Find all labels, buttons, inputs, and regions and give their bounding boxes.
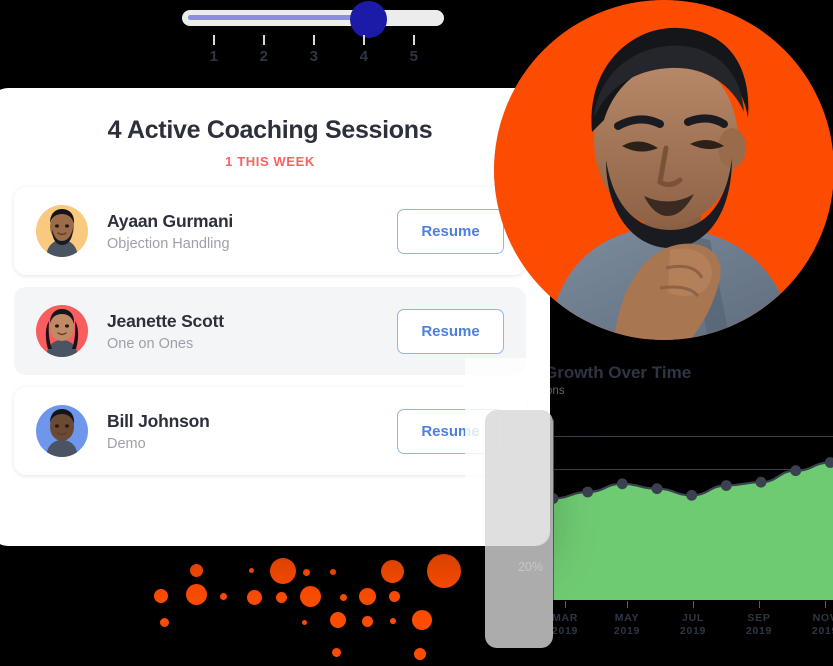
decorative-dot bbox=[303, 569, 310, 576]
resume-button[interactable]: Resume bbox=[397, 409, 504, 454]
session-list: Ayaan GurmaniObjection HandlingResumeJea… bbox=[0, 187, 550, 475]
chart-x-tick bbox=[565, 601, 566, 608]
decorative-dot bbox=[302, 620, 307, 625]
avatar bbox=[36, 405, 88, 457]
card-header: 4 Active Coaching Sessions 1 THIS WEEK bbox=[0, 88, 550, 173]
slider-tick-4 bbox=[363, 35, 365, 45]
slider-tick-1 bbox=[213, 35, 215, 45]
session-text: Bill JohnsonDemo bbox=[107, 411, 397, 452]
chart-data-point bbox=[617, 478, 628, 489]
decorative-dot bbox=[160, 618, 169, 627]
chart-y-tick-label: 20% bbox=[499, 560, 543, 574]
chart-x-tick bbox=[825, 601, 826, 608]
slider-tick-label-3[interactable]: 3 bbox=[304, 48, 324, 65]
chart-x-tick-label: NOV2019 bbox=[812, 612, 833, 638]
session-learner-name: Ayaan Gurmani bbox=[107, 211, 397, 232]
decorative-dot bbox=[390, 618, 396, 624]
avatar bbox=[36, 205, 88, 257]
chart-x-tick-label: MAY2019 bbox=[614, 612, 640, 638]
chart-plot-area bbox=[553, 420, 833, 600]
decorative-dot bbox=[247, 590, 262, 605]
chart-data-point bbox=[721, 480, 732, 491]
decorative-dot bbox=[412, 610, 432, 630]
decorative-dot bbox=[276, 592, 287, 603]
page-title: 4 Active Coaching Sessions bbox=[0, 116, 550, 145]
decorative-dot bbox=[186, 584, 207, 605]
chart-x-tick-label: JUL2019 bbox=[680, 612, 706, 638]
decorative-dot bbox=[359, 588, 376, 605]
slider-tick-label-4[interactable]: 4 bbox=[354, 48, 374, 65]
session-topic: Demo bbox=[107, 436, 397, 452]
slider-thumb[interactable] bbox=[350, 1, 387, 38]
session-row[interactable]: Jeanette ScottOne on OnesResume bbox=[14, 287, 526, 375]
active-sessions-card: 4 Active Coaching Sessions 1 THIS WEEK A… bbox=[0, 88, 550, 546]
session-row[interactable]: Bill JohnsonDemoResume bbox=[14, 387, 526, 475]
decorative-dot bbox=[414, 648, 426, 660]
chart-x-tick bbox=[759, 601, 760, 608]
session-row[interactable]: Ayaan GurmaniObjection HandlingResume bbox=[14, 187, 526, 275]
decorative-dot bbox=[190, 564, 203, 577]
chart-x-tick bbox=[693, 601, 694, 608]
decorative-dot bbox=[300, 586, 321, 607]
session-topic: One on Ones bbox=[107, 336, 397, 352]
slider-tick-3 bbox=[313, 35, 315, 45]
resume-button[interactable]: Resume bbox=[397, 309, 504, 354]
decorative-dot bbox=[362, 616, 373, 627]
chart-data-point bbox=[582, 487, 593, 498]
chart-x-tick-label: MAR2019 bbox=[552, 612, 578, 638]
portrait-illustration bbox=[494, 0, 833, 340]
slider-tick-5 bbox=[413, 35, 415, 45]
chart-data-point bbox=[790, 465, 801, 476]
slider-tick-label-2[interactable]: 2 bbox=[254, 48, 274, 65]
decorative-dot bbox=[249, 568, 254, 573]
session-text: Ayaan GurmaniObjection Handling bbox=[107, 211, 397, 252]
chart-x-tick-label: SEP2019 bbox=[746, 612, 772, 638]
decorative-dot bbox=[154, 589, 168, 603]
decorative-dot bbox=[330, 569, 336, 575]
decorative-dot bbox=[330, 612, 346, 628]
slider-tick-2 bbox=[263, 35, 265, 45]
resume-button[interactable]: Resume bbox=[397, 209, 504, 254]
screenshot-stage: Learner Growth Over Time Last 10 Session… bbox=[0, 0, 833, 666]
chart-data-point bbox=[652, 483, 663, 494]
avatar bbox=[36, 305, 88, 357]
chart-x-tick bbox=[627, 601, 628, 608]
decorative-dot bbox=[220, 593, 227, 600]
session-text: Jeanette ScottOne on Ones bbox=[107, 311, 397, 352]
session-learner-name: Bill Johnson bbox=[107, 411, 397, 432]
session-topic: Objection Handling bbox=[107, 236, 397, 252]
slider-fill bbox=[188, 15, 368, 20]
hero-portrait-circle bbox=[494, 0, 833, 340]
slider-tick-label-1[interactable]: 1 bbox=[204, 48, 224, 65]
chart-series-area bbox=[553, 420, 833, 600]
chart-x-axis: MAR2019MAY2019JUL2019SEP2019NOV2019 bbox=[553, 601, 833, 641]
chart-data-point bbox=[756, 477, 767, 488]
decorative-dot bbox=[381, 560, 404, 583]
chart-data-point bbox=[686, 490, 697, 501]
decorative-dot bbox=[332, 648, 341, 657]
decorative-dot bbox=[389, 591, 400, 602]
orange-dot-pattern bbox=[150, 550, 490, 666]
decorative-dot bbox=[270, 558, 296, 584]
decorative-dot bbox=[427, 554, 461, 588]
this-week-badge: 1 THIS WEEK bbox=[0, 154, 550, 169]
session-learner-name: Jeanette Scott bbox=[107, 311, 397, 332]
slider-tick-label-5[interactable]: 5 bbox=[404, 48, 424, 65]
decorative-dot bbox=[340, 594, 347, 601]
step-slider[interactable]: 12345 bbox=[182, 5, 444, 65]
chart-y-axis-line bbox=[553, 420, 554, 600]
